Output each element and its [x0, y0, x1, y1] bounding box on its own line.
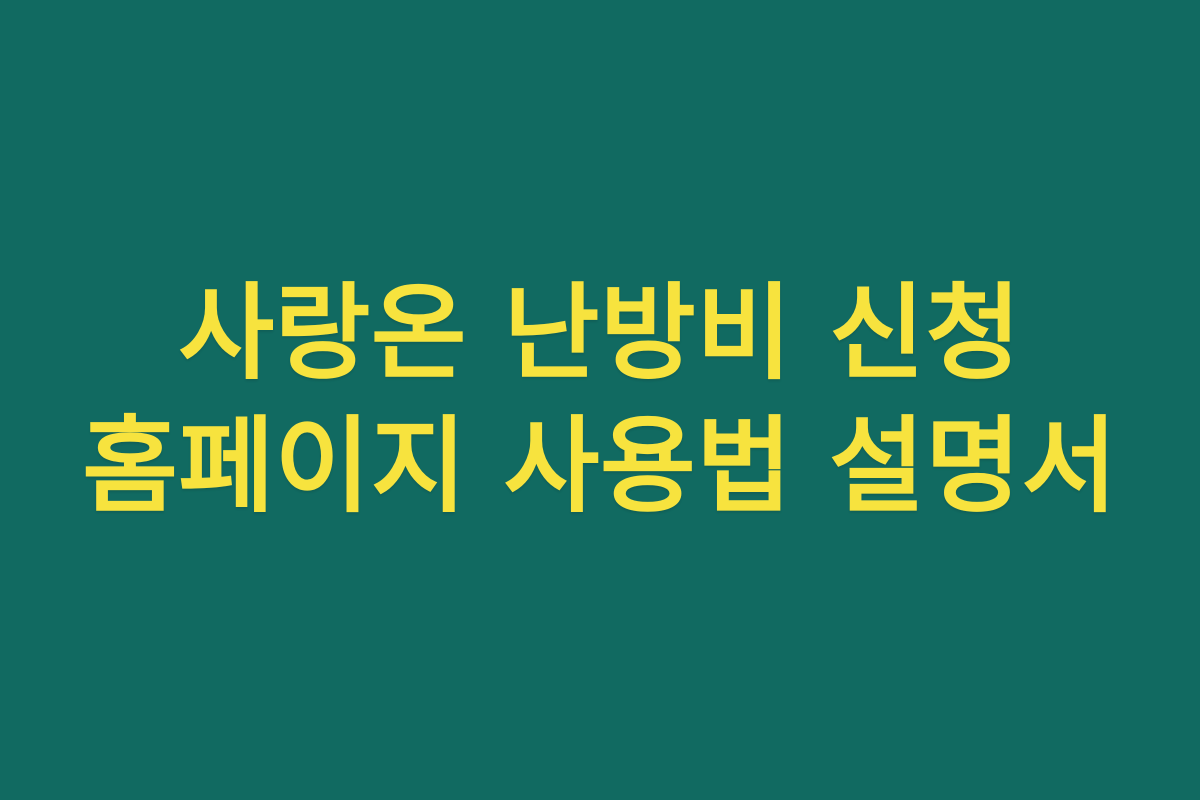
- title-card: 사랑온 난방비 신청 홈페이지 사용법 설명서: [0, 0, 1200, 800]
- page-title: 사랑온 난방비 신청 홈페이지 사용법 설명서: [80, 267, 1120, 533]
